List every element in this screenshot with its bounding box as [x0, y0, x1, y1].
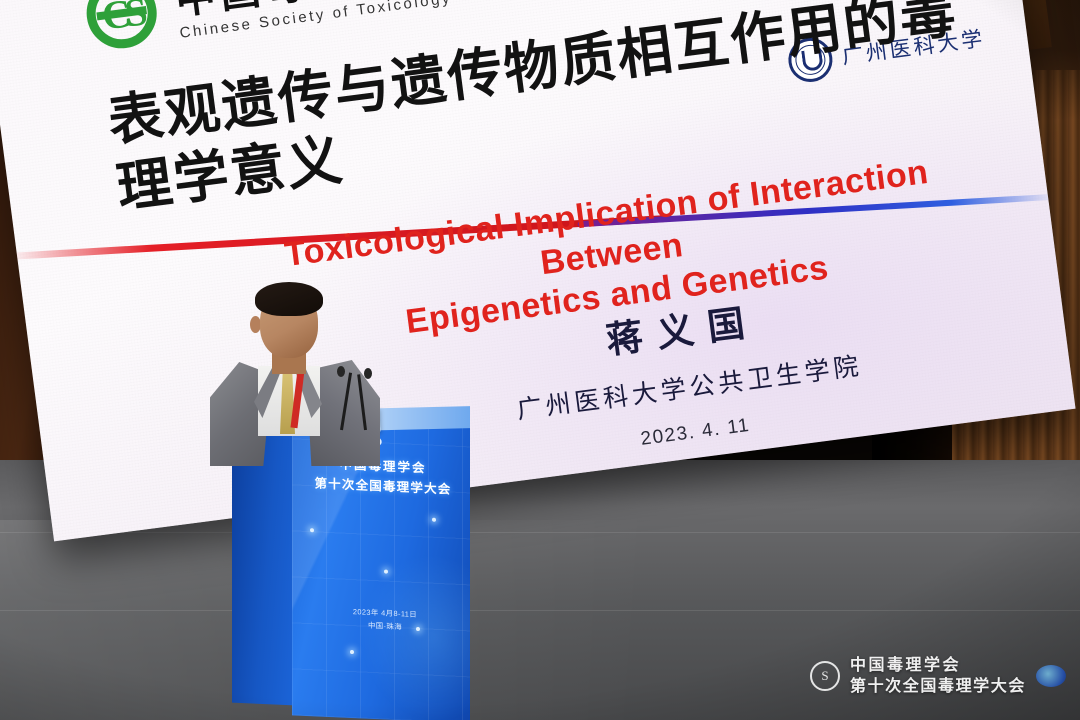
speaker-figure	[206, 286, 382, 466]
lectern-side-panel	[232, 427, 294, 706]
hair	[255, 282, 323, 316]
conference-photo-scene: CS 中国毒理学会 Chinese Society of Toxicology …	[0, 0, 1080, 720]
lectern-spark	[350, 650, 354, 654]
lectern-spark	[310, 528, 314, 532]
watermark: 中国毒理学会 第十次全国毒理学大会	[810, 655, 1066, 698]
lectern-spark	[432, 518, 436, 522]
microphone-capsule	[364, 368, 372, 379]
cst-seal-icon	[810, 661, 840, 691]
watermark-line2: 第十次全国毒理学大会	[850, 676, 1026, 698]
watermark-text: 中国毒理学会 第十次全国毒理学大会	[850, 655, 1026, 698]
logo-monogram: CS	[78, 0, 165, 57]
floor-seam	[0, 610, 1080, 611]
watermark-line1: 中国毒理学会	[850, 655, 1026, 677]
cst-circular-monogram-logo: CS	[78, 0, 165, 57]
lectern-spark	[384, 569, 388, 573]
floor-seam	[0, 532, 1080, 533]
microphone-capsule	[337, 366, 345, 377]
conference-globe-badge-icon	[1036, 665, 1066, 687]
